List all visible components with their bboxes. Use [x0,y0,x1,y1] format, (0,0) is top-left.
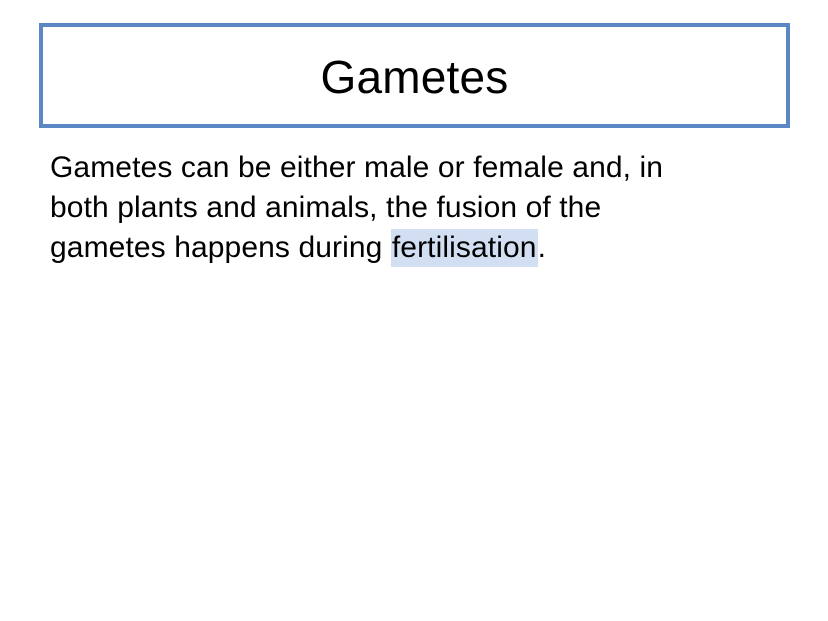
body-line-3-text-after: . [538,231,546,264]
body-line-2-text: both plants and animals, the fusion of t… [50,191,601,224]
slide-canvas: Gametes Gametes can be either male or fe… [0,0,828,621]
body-line-3-text-before: gametes happens during [50,231,391,264]
body-line-1: Gametes can be either male or female and… [50,148,750,188]
page-title: Gametes [320,54,508,100]
highlighted-term: fertilisation [391,229,538,267]
body-line-2: both plants and animals, the fusion of t… [50,188,750,228]
body-line-3: gametes happens during fertilisation. [50,228,750,268]
title-placeholder-box: Gametes [39,23,790,128]
body-line-1-text: Gametes can be either male or female and… [50,151,663,184]
body-text-block: Gametes can be either male or female and… [50,148,750,268]
